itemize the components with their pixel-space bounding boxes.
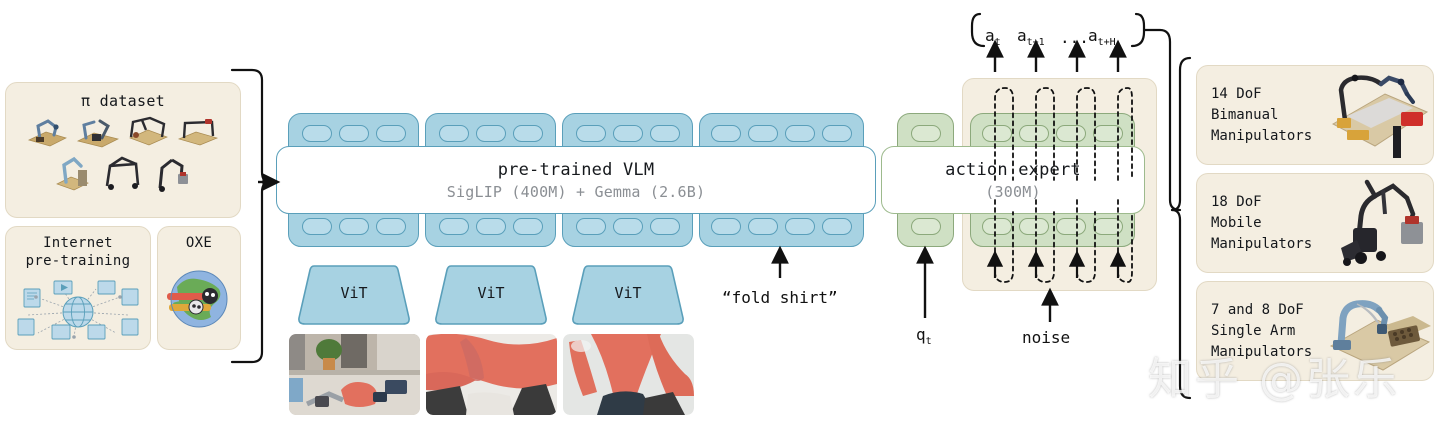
- token-row-top: [700, 125, 863, 142]
- internet-pretraining-title: Internet pre-training: [6, 235, 150, 270]
- token-row-bottom: [289, 218, 418, 235]
- state-input-base: q: [916, 325, 926, 344]
- open-x-embodiment-globe-icon: [158, 263, 240, 335]
- robot-card-bimanual: 14 DoF Bimanual Manipulators: [1196, 65, 1434, 165]
- token-pill: [476, 125, 506, 142]
- pi-dataset-title: π dataset: [6, 92, 240, 110]
- oxe-panel: OXE: [157, 226, 241, 350]
- token-row-bottom: [898, 218, 953, 235]
- camera-thumbnail-wrist-left: [426, 334, 557, 415]
- token-pill: [439, 218, 469, 235]
- robot-card-label: 18 DoF Mobile Manipulators: [1211, 192, 1312, 255]
- token-pill: [376, 125, 406, 142]
- vit-label: ViT: [572, 284, 684, 302]
- output-token-ellipsis: ...: [1060, 28, 1089, 47]
- token-pill: [339, 218, 369, 235]
- robot-thumbnail: [126, 114, 170, 148]
- vlm-sub-label: SigLIP (400M) + Gemma (2.6B): [447, 183, 705, 201]
- token-pill: [1093, 125, 1123, 142]
- robot-thumbnail: [150, 152, 192, 192]
- token-pill: [785, 218, 815, 235]
- token-pill: [339, 125, 369, 142]
- action-expert-box: action expert (300M): [881, 146, 1145, 214]
- token-pill: [650, 218, 680, 235]
- robot-thumbnail: [26, 114, 70, 148]
- bimanual-manipulator-photo: [1327, 68, 1431, 160]
- token-pill: [911, 125, 941, 142]
- output-token-a-t1: at+1: [1017, 26, 1045, 48]
- vit-label: ViT: [298, 284, 410, 302]
- token-pill: [576, 125, 606, 142]
- action-output-arrows: [995, 48, 1118, 72]
- token-pill: [982, 125, 1012, 142]
- token-pill: [785, 125, 815, 142]
- token-pill: [613, 218, 643, 235]
- token-pill: [982, 218, 1012, 235]
- action-expert-main-label: action expert: [945, 160, 1081, 180]
- token-pill: [711, 218, 741, 235]
- internet-pretraining-panel: Internet pre-training: [5, 226, 151, 350]
- token-pill: [613, 125, 643, 142]
- action-expert-sub-label: (300M): [985, 183, 1040, 201]
- token-pill: [576, 218, 606, 235]
- network-globe-documents-icon: [6, 279, 150, 345]
- token-row-bottom: [563, 218, 692, 235]
- token-pill: [822, 125, 852, 142]
- token-pill: [1019, 218, 1049, 235]
- token-sub: t+H: [1098, 37, 1116, 48]
- pre-trained-vlm-box: pre-trained VLM SigLIP (400M) + Gemma (2…: [276, 146, 876, 214]
- token-pill: [439, 125, 469, 142]
- token-row-bottom: [971, 218, 1134, 235]
- vit-block-1: ViT: [298, 264, 410, 326]
- token-base: a: [1017, 26, 1027, 45]
- output-token-a-tH: at+H: [1088, 26, 1116, 48]
- token-pill: [711, 125, 741, 142]
- token-row-bottom: [700, 218, 863, 235]
- oxe-title: OXE: [158, 235, 240, 251]
- vit-label: ViT: [435, 284, 547, 302]
- token-pill: [302, 125, 332, 142]
- vit-block-2: ViT: [435, 264, 547, 326]
- token-base: a: [985, 26, 995, 45]
- pi-dataset-thumbnail-grid: [6, 110, 240, 192]
- token-pill: [302, 218, 332, 235]
- vlm-main-label: pre-trained VLM: [498, 160, 655, 180]
- pi-dataset-panel: π dataset: [5, 82, 241, 218]
- token-row-top: [898, 125, 953, 142]
- output-token-a-t: at: [985, 26, 1001, 48]
- token-base: a: [1088, 26, 1098, 45]
- token-row-bottom: [426, 218, 555, 235]
- robot-thumbnail: [76, 114, 120, 148]
- mobile-manipulator-photo: [1327, 176, 1431, 268]
- token-sub: t+1: [1027, 37, 1045, 48]
- robot-thumbnail: [54, 152, 96, 192]
- vit-block-3: ViT: [572, 264, 684, 326]
- state-input-sub: t: [926, 336, 932, 347]
- camera-thumbnail-scene: [289, 334, 420, 415]
- token-pill: [513, 125, 543, 142]
- robot-card-label: 14 DoF Bimanual Manipulators: [1211, 84, 1312, 147]
- token-pill: [376, 218, 406, 235]
- token-pill: [650, 125, 680, 142]
- token-pill: [748, 125, 778, 142]
- token-pill: [1093, 218, 1123, 235]
- token-pill: [476, 218, 506, 235]
- token-pill: [1056, 125, 1086, 142]
- noise-input-label: noise: [1022, 328, 1070, 347]
- token-sub: t: [995, 37, 1001, 48]
- prompt-text: “fold shirt”: [722, 288, 838, 307]
- watermark: 知乎 @张乐: [1148, 343, 1400, 407]
- state-input-label: qt: [916, 325, 932, 347]
- robot-thumbnail: [176, 114, 220, 148]
- token-pill: [822, 218, 852, 235]
- token-pill: [1056, 218, 1086, 235]
- token-row-top: [289, 125, 418, 142]
- camera-thumbnail-wrist-right: [563, 334, 694, 415]
- token-pill: [911, 218, 941, 235]
- token-pill: [1019, 125, 1049, 142]
- token-row-top: [971, 125, 1134, 142]
- robot-card-mobile: 18 DoF Mobile Manipulators: [1196, 173, 1434, 273]
- token-row-top: [563, 125, 692, 142]
- robot-thumbnail: [102, 152, 144, 192]
- token-pill: [513, 218, 543, 235]
- token-pill: [748, 218, 778, 235]
- token-row-top: [426, 125, 555, 142]
